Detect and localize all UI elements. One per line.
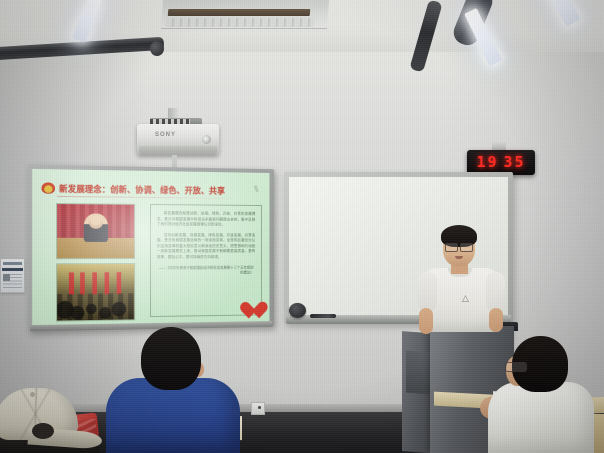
ceiling-vent-bar (168, 9, 311, 16)
baseball-cap-button (30, 392, 35, 397)
presenter-eyeglasses-icon (445, 243, 473, 250)
whiteboard-eraser (289, 303, 306, 318)
notice-header (3, 262, 22, 265)
photo-flag-row (65, 272, 126, 295)
slide-title: 新发展理念：创新、协调、绿色、开放、共享 (59, 182, 225, 196)
wall-notice-poster (0, 258, 25, 293)
presenter-sleeve-left (418, 272, 437, 312)
whiteboard-marker (310, 314, 336, 318)
party-emblem-icon (42, 182, 55, 193)
presenter-arm-right (489, 308, 503, 332)
presenter-sleeve-right (486, 272, 505, 312)
speaker-podium-photo (56, 203, 135, 259)
wall-outlet (251, 402, 265, 415)
slide-paragraph-2: 坚持创新发展、协调发展、绿色发展、开放发展、共享发展，是关系我国发展全局的一场深… (157, 233, 255, 261)
projection-screen: 新发展理念：创新、协调、绿色、开放、共享 ✎ 新发展理念就是创新、协调、绿色、开… (28, 165, 274, 332)
student-white-shirt-body (488, 382, 594, 453)
projector-lens (202, 135, 211, 144)
notice-title-band (2, 268, 23, 271)
presenter-arm-left (419, 308, 433, 334)
notice-thumbnail (3, 274, 10, 281)
clock-hours: 19 (476, 155, 498, 170)
wall-outlet-indicator (258, 406, 261, 409)
student-eyeglasses-icon (505, 362, 527, 372)
red-heart-icon (245, 301, 266, 320)
clock-minutes: 35 (504, 155, 526, 170)
projector-front-panel (139, 146, 217, 155)
shirt-logo-icon: △ (462, 294, 474, 305)
slide-surface: 新发展理念：创新、协调、绿色、开放、共享 ✎ 新发展理念就是创新、协调、绿色、开… (32, 169, 269, 326)
baseball-cap-back-opening (32, 423, 54, 439)
photo-speaker-face (89, 216, 103, 229)
ceiling-vent-grille (166, 18, 315, 27)
projector-brand-label: SONY (155, 132, 176, 138)
classroom-scene: SONY 19 35 新发展理念：创新、协调、绿色、开放、共享 ✎ (0, 0, 604, 453)
slide-paragraph-1: 新发展理念就是创新、协调、绿色、开放、共享的发展理念，是针对我国发展中的突出矛盾… (157, 211, 255, 228)
student-blue-shirt-head (141, 327, 201, 390)
photo-audience (57, 293, 134, 321)
congress-hall-photo (56, 263, 135, 322)
slide-source-citation: ——《中共中央关于制定国民经济和社会发展第十三个五年规划的建议》 (157, 265, 254, 275)
